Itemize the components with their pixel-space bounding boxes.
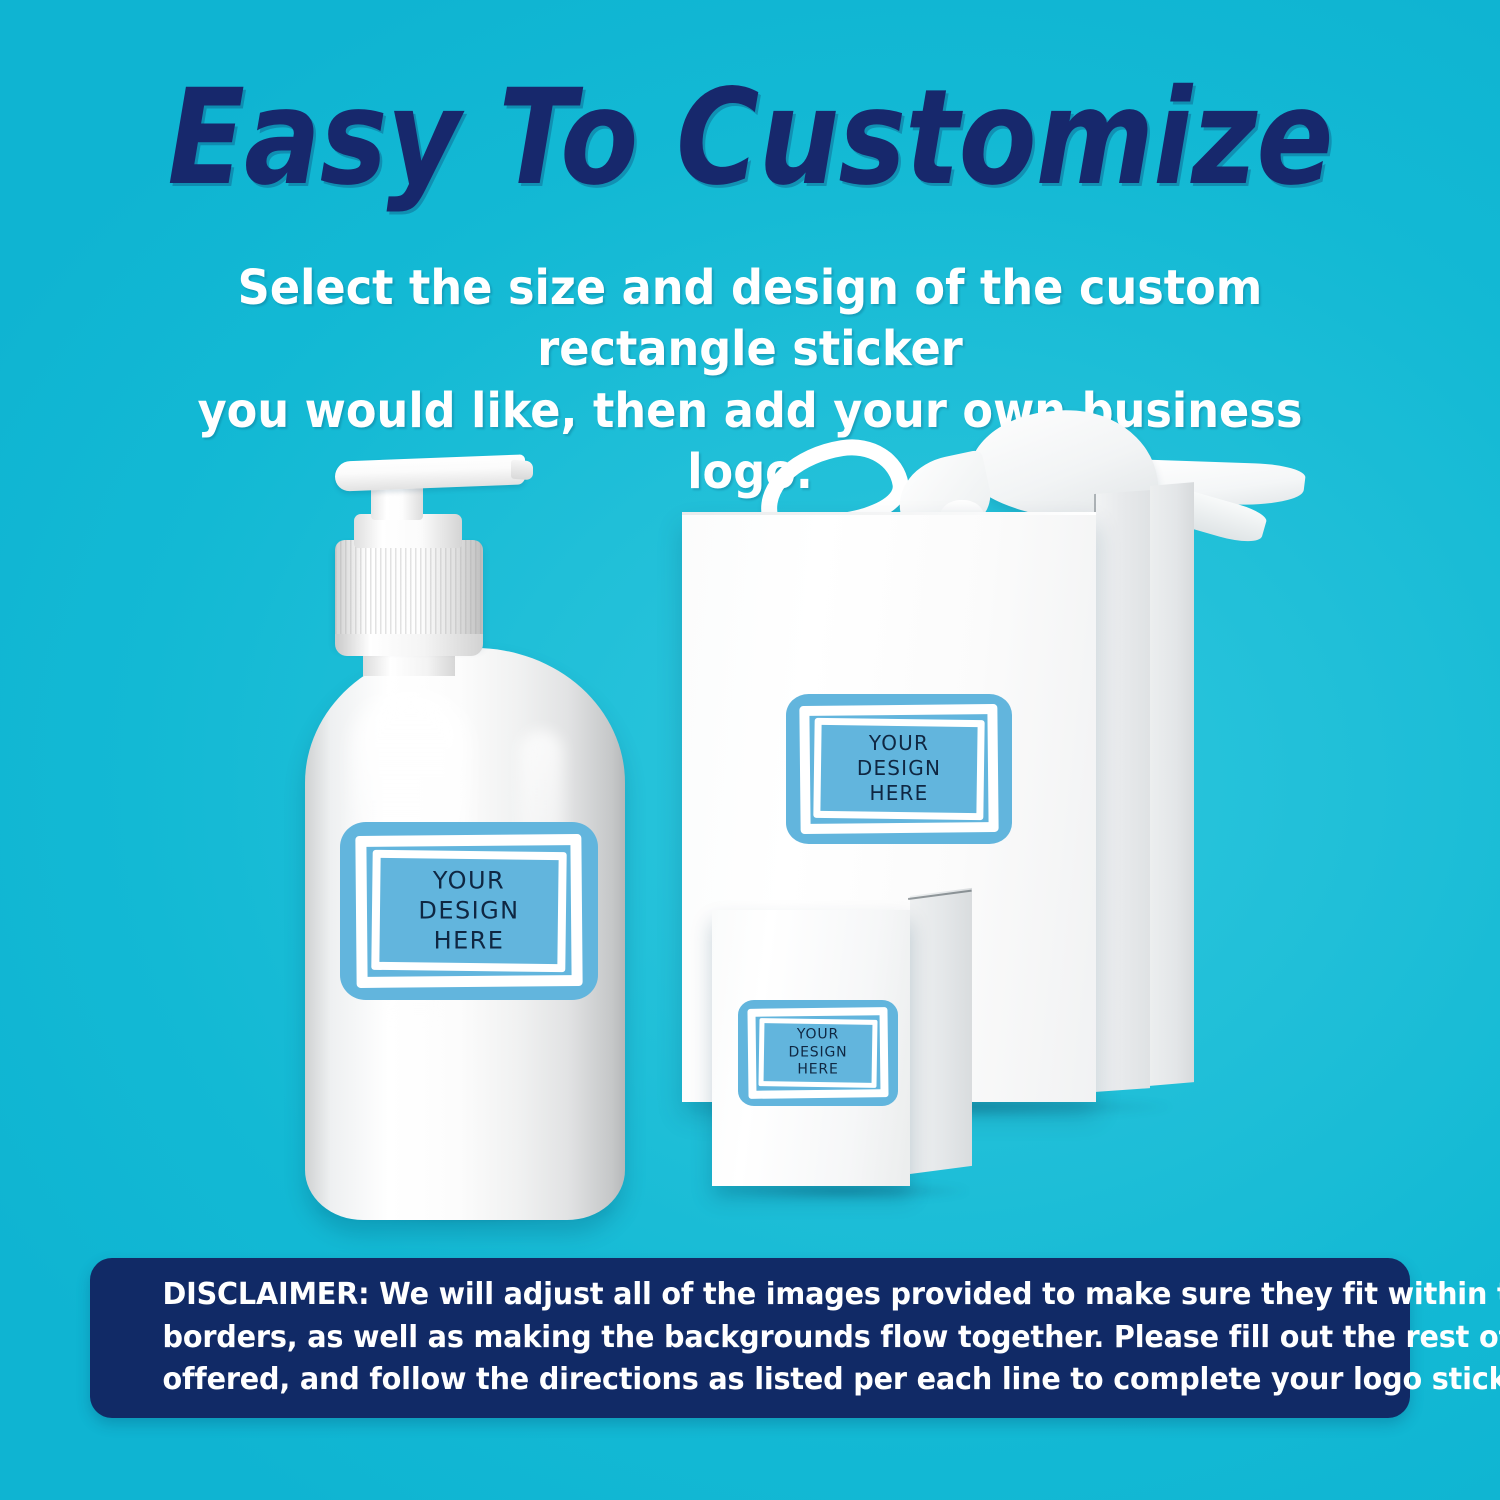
sticker-on-smallbox[interactable]: YOUR DESIGN HERE xyxy=(738,1000,898,1106)
sticker-label-text: YOUR DESIGN HERE xyxy=(738,1027,898,1080)
sticker-line-3: HERE xyxy=(340,926,598,956)
sticker-label-text: YOUR DESIGN HERE xyxy=(786,731,1012,807)
pump-collar xyxy=(335,540,483,646)
disclaimer-line-1: DISCLAIMER: We will adjust all of the im… xyxy=(163,1274,1338,1317)
sticker-line-2: DESIGN xyxy=(786,756,1012,781)
small-box-mockup: YOUR DESIGN HERE xyxy=(712,896,987,1196)
sticker-line-3: HERE xyxy=(786,782,1012,807)
giftbox-side-panel xyxy=(1096,490,1150,1092)
pump-bottle-mockup: YOUR DESIGN HERE xyxy=(305,440,625,1220)
page-title: Easy To Customize xyxy=(105,72,1395,204)
sticker-line-3: HERE xyxy=(738,1062,898,1080)
disclaimer-text: DISCLAIMER: We will adjust all of the im… xyxy=(163,1274,1338,1402)
sticker-line-2: DESIGN xyxy=(738,1044,898,1062)
disclaimer-line-3: offered, and follow the directions as li… xyxy=(163,1359,1338,1402)
smallbox-side-panel xyxy=(910,888,972,1174)
sticker-line-1: YOUR xyxy=(786,731,1012,756)
disclaimer-line-2: borders, as well as making the backgroun… xyxy=(163,1317,1338,1360)
promo-graphic: Easy To Customize Select the size and de… xyxy=(0,0,1500,1500)
sticker-line-1: YOUR xyxy=(340,866,598,896)
sticker-line-2: DESIGN xyxy=(340,896,598,926)
sticker-line-1: YOUR xyxy=(738,1027,898,1045)
disclaimer-banner: DISCLAIMER: We will adjust all of the im… xyxy=(90,1258,1410,1418)
sticker-on-bottle[interactable]: YOUR DESIGN HERE xyxy=(340,822,598,1000)
sticker-label-text: YOUR DESIGN HERE xyxy=(340,866,598,957)
pump-nozzle-lever xyxy=(335,454,525,491)
giftbox-lid-side-panel xyxy=(1150,482,1194,1086)
subtitle-line-1: Select the size and design of the custom… xyxy=(136,258,1364,381)
sticker-on-giftbox[interactable]: YOUR DESIGN HERE xyxy=(786,694,1012,844)
